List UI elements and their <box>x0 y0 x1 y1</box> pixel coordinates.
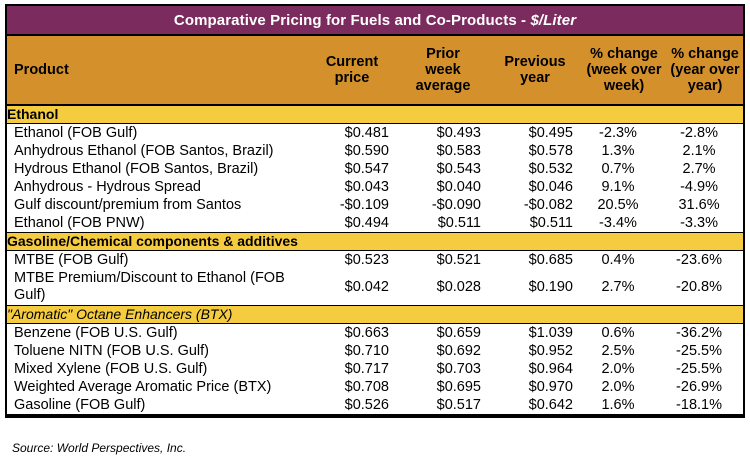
column-header-previous-year: Previousyear <box>489 35 581 105</box>
table-title-row: Comparative Pricing for Fuels and Co-Pro… <box>7 6 743 35</box>
cell-previous-year: $0.190 <box>489 269 581 306</box>
cell-previous-year: $0.511 <box>489 214 581 233</box>
pricing-table-page: Comparative Pricing for Fuels and Co-Pro… <box>0 0 750 461</box>
table-row: Ethanol (FOB Gulf)$0.481$0.493$0.495-2.3… <box>7 124 743 143</box>
cell-pct-change-year: -26.9% <box>667 378 743 396</box>
cell-product: Hydrous Ethanol (FOB Santos, Brazil) <box>7 160 307 178</box>
comparative-pricing-table: Comparative Pricing for Fuels and Co-Pro… <box>7 6 743 416</box>
column-header-change-week-over-week: % change(week overweek) <box>581 35 667 105</box>
section-header-label: Gasoline/Chemical components & additives <box>7 233 743 251</box>
cell-product: MTBE Premium/Discount to Ethanol (FOB Gu… <box>7 269 307 306</box>
cell-current-price: $0.526 <box>307 396 397 415</box>
cell-pct-change-week: 0.6% <box>581 324 667 343</box>
cell-current-price: $0.494 <box>307 214 397 233</box>
pricing-table-container: Comparative Pricing for Fuels and Co-Pro… <box>5 4 745 418</box>
table-row: MTBE Premium/Discount to Ethanol (FOB Gu… <box>7 269 743 306</box>
cell-previous-year: $0.532 <box>489 160 581 178</box>
cell-product: Gulf discount/premium from Santos <box>7 196 307 214</box>
table-row: Gulf discount/premium from Santos-$0.109… <box>7 196 743 214</box>
section-header-row: "Aromatic" Octane Enhancers (BTX) <box>7 306 743 324</box>
cell-product: Ethanol (FOB PNW) <box>7 214 307 233</box>
column-header-current-price: Currentprice <box>307 35 397 105</box>
cell-pct-change-week: 20.5% <box>581 196 667 214</box>
source-note: Source: World Perspectives, Inc. <box>12 441 186 455</box>
table-row: MTBE (FOB Gulf)$0.523$0.521$0.6850.4%-23… <box>7 251 743 270</box>
cell-pct-change-year: -4.9% <box>667 178 743 196</box>
cell-previous-year: $0.970 <box>489 378 581 396</box>
table-row: Mixed Xylene (FOB U.S. Gulf)$0.717$0.703… <box>7 360 743 378</box>
cell-current-price: -$0.109 <box>307 196 397 214</box>
cell-current-price: $0.547 <box>307 160 397 178</box>
table-title-text: Comparative Pricing for Fuels and Co-Pro… <box>174 12 531 29</box>
table-row: Ethanol (FOB PNW)$0.494$0.511$0.511-3.4%… <box>7 214 743 233</box>
cell-previous-year: $0.578 <box>489 142 581 160</box>
cell-previous-year: -$0.082 <box>489 196 581 214</box>
cell-current-price: $0.481 <box>307 124 397 143</box>
table-row: Hydrous Ethanol (FOB Santos, Brazil)$0.5… <box>7 160 743 178</box>
cell-previous-year: $0.952 <box>489 342 581 360</box>
cell-current-price: $0.663 <box>307 324 397 343</box>
cell-pct-change-week: 2.7% <box>581 269 667 306</box>
table-row: Anhydrous - Hydrous Spread$0.043$0.040$0… <box>7 178 743 196</box>
cell-prior-week-average: -$0.090 <box>397 196 489 214</box>
column-header-prior-week-average: Priorweekaverage <box>397 35 489 105</box>
cell-product: Gasoline (FOB Gulf) <box>7 396 307 415</box>
cell-product: MTBE (FOB Gulf) <box>7 251 307 270</box>
table-row: Weighted Average Aromatic Price (BTX)$0.… <box>7 378 743 396</box>
section-header-label: Ethanol <box>7 105 743 124</box>
cell-pct-change-year: 31.6% <box>667 196 743 214</box>
cell-pct-change-year: -18.1% <box>667 396 743 415</box>
cell-previous-year: $0.495 <box>489 124 581 143</box>
cell-pct-change-year: -36.2% <box>667 324 743 343</box>
cell-previous-year: $1.039 <box>489 324 581 343</box>
cell-current-price: $0.590 <box>307 142 397 160</box>
section-header-row: Gasoline/Chemical components & additives <box>7 233 743 251</box>
table-row: Benzene (FOB U.S. Gulf)$0.663$0.659$1.03… <box>7 324 743 343</box>
cell-prior-week-average: $0.493 <box>397 124 489 143</box>
table-header-row: ProductCurrentpricePriorweekaveragePrevi… <box>7 35 743 105</box>
cell-current-price: $0.043 <box>307 178 397 196</box>
column-header-product: Product <box>7 35 307 105</box>
cell-prior-week-average: $0.040 <box>397 178 489 196</box>
cell-current-price: $0.042 <box>307 269 397 306</box>
cell-pct-change-year: 2.1% <box>667 142 743 160</box>
cell-pct-change-year: -2.8% <box>667 124 743 143</box>
cell-product: Benzene (FOB U.S. Gulf) <box>7 324 307 343</box>
cell-pct-change-year: -25.5% <box>667 360 743 378</box>
cell-prior-week-average: $0.692 <box>397 342 489 360</box>
cell-prior-week-average: $0.517 <box>397 396 489 415</box>
cell-pct-change-week: 1.3% <box>581 142 667 160</box>
cell-previous-year: $0.046 <box>489 178 581 196</box>
cell-pct-change-year: -25.5% <box>667 342 743 360</box>
table-title: Comparative Pricing for Fuels and Co-Pro… <box>7 6 743 35</box>
cell-pct-change-week: 0.7% <box>581 160 667 178</box>
cell-prior-week-average: $0.521 <box>397 251 489 270</box>
section-header-label: "Aromatic" Octane Enhancers (BTX) <box>7 306 743 324</box>
cell-pct-change-year: 2.7% <box>667 160 743 178</box>
cell-pct-change-year: -23.6% <box>667 251 743 270</box>
cell-product: Toluene NITN (FOB U.S. Gulf) <box>7 342 307 360</box>
cell-product: Anhydrous Ethanol (FOB Santos, Brazil) <box>7 142 307 160</box>
cell-current-price: $0.717 <box>307 360 397 378</box>
table-row: Toluene NITN (FOB U.S. Gulf)$0.710$0.692… <box>7 342 743 360</box>
cell-prior-week-average: $0.659 <box>397 324 489 343</box>
table-row: Gasoline (FOB Gulf)$0.526$0.517$0.6421.6… <box>7 396 743 415</box>
column-header-change-year-over-year: % change(year overyear) <box>667 35 743 105</box>
table-title-unit: $/Liter <box>530 12 576 29</box>
cell-pct-change-week: 0.4% <box>581 251 667 270</box>
cell-pct-change-week: 1.6% <box>581 396 667 415</box>
cell-product: Mixed Xylene (FOB U.S. Gulf) <box>7 360 307 378</box>
cell-product: Anhydrous - Hydrous Spread <box>7 178 307 196</box>
cell-pct-change-week: 2.0% <box>581 378 667 396</box>
cell-pct-change-week: 9.1% <box>581 178 667 196</box>
cell-prior-week-average: $0.028 <box>397 269 489 306</box>
cell-pct-change-week: 2.0% <box>581 360 667 378</box>
cell-prior-week-average: $0.695 <box>397 378 489 396</box>
cell-pct-change-week: -2.3% <box>581 124 667 143</box>
table-row: Anhydrous Ethanol (FOB Santos, Brazil)$0… <box>7 142 743 160</box>
cell-prior-week-average: $0.703 <box>397 360 489 378</box>
cell-prior-week-average: $0.511 <box>397 214 489 233</box>
cell-current-price: $0.708 <box>307 378 397 396</box>
cell-previous-year: $0.964 <box>489 360 581 378</box>
cell-prior-week-average: $0.583 <box>397 142 489 160</box>
cell-prior-week-average: $0.543 <box>397 160 489 178</box>
cell-pct-change-week: 2.5% <box>581 342 667 360</box>
cell-current-price: $0.710 <box>307 342 397 360</box>
cell-previous-year: $0.685 <box>489 251 581 270</box>
cell-pct-change-week: -3.4% <box>581 214 667 233</box>
cell-previous-year: $0.642 <box>489 396 581 415</box>
cell-product: Weighted Average Aromatic Price (BTX) <box>7 378 307 396</box>
cell-pct-change-year: -20.8% <box>667 269 743 306</box>
section-header-row: Ethanol <box>7 105 743 124</box>
cell-product: Ethanol (FOB Gulf) <box>7 124 307 143</box>
cell-current-price: $0.523 <box>307 251 397 270</box>
cell-pct-change-year: -3.3% <box>667 214 743 233</box>
